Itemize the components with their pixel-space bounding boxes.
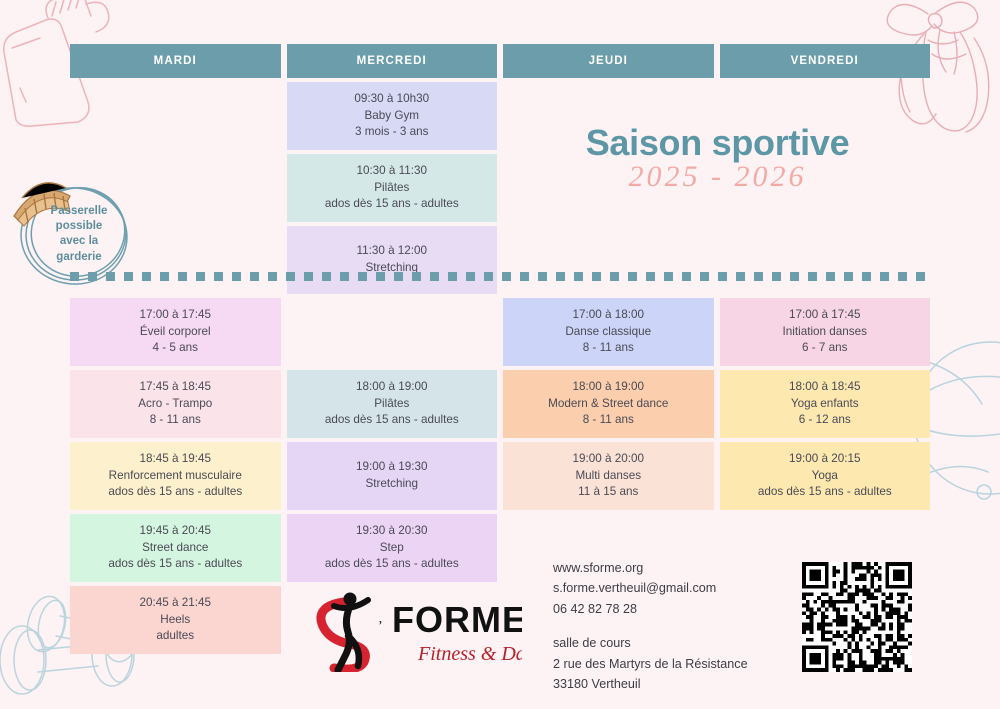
schedule-cell-modern-street-dance[interactable]: 18:00 à 19:00Modern & Street dance8 - 11… — [503, 370, 714, 438]
schedule-cell-baby-gym[interactable]: 09:30 à 10h30Baby Gym3 mois - 3 ans — [287, 82, 498, 150]
class-ages: 3 mois - 3 ans — [355, 124, 428, 141]
logo-tagline: Fitness & Danse — [417, 643, 522, 665]
class-ages: 4 - 5 ans — [153, 340, 198, 357]
contact-city: 33180 Vertheuil — [553, 674, 803, 694]
class-name: Yoga — [812, 468, 838, 485]
passerelle-line-1: Passerelle — [51, 205, 108, 217]
class-ages: ados dès 15 ans - adultes — [108, 556, 242, 573]
logo-apostrophe: ’ — [378, 619, 383, 634]
sforme-logo: ’ FORME Fitness & Danse — [300, 586, 522, 672]
class-ages: ados dès 15 ans - adultes — [325, 556, 459, 573]
class-name: Heels — [160, 612, 190, 629]
class-time: 19:30 à 20:30 — [356, 523, 428, 540]
class-name: Pilâtes — [374, 180, 409, 197]
schedule-cell-street-dance[interactable]: 19:45 à 20:45Street danceados dès 15 ans… — [70, 514, 281, 582]
schedule-cell-heels[interactable]: 20:45 à 21:45Heelsadultes — [70, 586, 281, 654]
class-name: Danse classique — [565, 324, 651, 341]
qr-code-canvas[interactable] — [802, 562, 912, 672]
logo-dancer-icon — [321, 593, 368, 671]
schedule-cell-empty — [70, 82, 281, 150]
class-time: 17:00 à 18:00 — [573, 307, 645, 324]
class-ages: 11 à 15 ans — [578, 484, 638, 501]
schedule-cell-empty — [720, 82, 931, 150]
qr-code[interactable] — [802, 562, 912, 672]
schedule-cell-empty — [503, 226, 714, 294]
contact-venue-label: salle de cours — [553, 633, 803, 653]
passerelle-line-3: avec la — [60, 235, 98, 247]
class-time: 19:00 à 20:15 — [789, 451, 861, 468]
class-name: Yoga enfants — [791, 396, 859, 413]
schedule-cell-empty — [503, 154, 714, 222]
schedule-cell-danse-classique[interactable]: 17:00 à 18:00Danse classique8 - 11 ans — [503, 298, 714, 366]
class-time: 18:00 à 19:00 — [573, 379, 645, 396]
class-time: 19:00 à 19:30 — [356, 459, 428, 476]
class-name: Renforcement musculaire — [109, 468, 242, 485]
day-header-mercredi: MERCREDI — [287, 44, 498, 78]
class-ages: ados dès 15 ans - adultes — [108, 484, 242, 501]
schedule-cell-pil-tes[interactable]: 18:00 à 19:00Pilâtesados dès 15 ans - ad… — [287, 370, 498, 438]
logo-word: FORME — [392, 599, 522, 640]
class-name: Éveil corporel — [140, 324, 211, 341]
passerelle-line-2: possible — [56, 220, 103, 232]
schedule-cell-initiation-danses[interactable]: 17:00 à 17:45Initiation danses6 - 7 ans — [720, 298, 931, 366]
class-time: 11:30 à 12:00 — [356, 243, 427, 260]
class-time: 19:45 à 20:45 — [140, 523, 212, 540]
class-time: 19:00 à 20:00 — [573, 451, 645, 468]
schedule-cell-stretching[interactable]: 11:30 à 12:00Stretching — [287, 226, 498, 294]
class-time: 09:30 à 10h30 — [354, 91, 429, 108]
passerelle-text: Passerelle possible avec la garderie — [38, 204, 120, 265]
class-name: Step — [380, 540, 404, 557]
day-header-vendredi: VENDREDI — [720, 44, 931, 78]
schedule-cell-yoga-enfants[interactable]: 18:00 à 18:45Yoga enfants6 - 12 ans — [720, 370, 931, 438]
contact-phone[interactable]: 06 42 82 78 28 — [553, 599, 803, 619]
class-time: 17:45 à 18:45 — [140, 379, 212, 396]
schedule-cell-empty — [720, 154, 931, 222]
class-ages: ados dès 15 ans - adultes — [325, 412, 459, 429]
contact-block: www.sforme.org s.forme.vertheuil@gmail.c… — [553, 558, 803, 694]
passerelle-line-4: garderie — [56, 251, 101, 263]
contact-email[interactable]: s.forme.vertheuil@gmail.com — [553, 578, 803, 598]
class-time: 18:00 à 19:00 — [356, 379, 428, 396]
schedule-cell-yoga[interactable]: 19:00 à 20:15Yogaados dès 15 ans - adult… — [720, 442, 931, 510]
flyer-page: MARDIMERCREDIJEUDIVENDREDI09:30 à 10h30B… — [0, 0, 1000, 709]
schedule-cell-empty — [287, 298, 498, 366]
contact-street: 2 rue des Martyrs de la Résistance — [553, 654, 803, 674]
class-time: 10:30 à 11:30 — [356, 163, 427, 180]
class-time: 20:45 à 21:45 — [140, 595, 212, 612]
class-ages: 6 - 12 ans — [799, 412, 851, 429]
schedule-cell-multi-danses[interactable]: 19:00 à 20:00Multi danses11 à 15 ans — [503, 442, 714, 510]
contact-spacer — [553, 619, 803, 633]
schedule-cell-step[interactable]: 19:30 à 20:30Stepados dès 15 ans - adult… — [287, 514, 498, 582]
class-name: Pilâtes — [374, 396, 409, 413]
schedule-cell-empty — [503, 82, 714, 150]
class-time: 17:00 à 17:45 — [789, 307, 861, 324]
class-ages: 8 - 11 ans — [583, 340, 634, 357]
schedule-cell-stretching[interactable]: 19:00 à 19:30Stretching — [287, 442, 498, 510]
class-name: Stretching — [365, 476, 418, 493]
schedule-cell-renforcement-musculaire[interactable]: 18:45 à 19:45Renforcement musculaireados… — [70, 442, 281, 510]
class-ages: 8 - 11 ans — [583, 412, 634, 429]
class-name: Baby Gym — [364, 108, 419, 125]
day-header-jeudi: JEUDI — [503, 44, 714, 78]
day-header-mardi: MARDI — [70, 44, 281, 78]
schedule-cell-acro-trampo[interactable]: 17:45 à 18:45Acro - Trampo8 - 11 ans — [70, 370, 281, 438]
class-name: Modern & Street dance — [548, 396, 668, 413]
class-time: 18:45 à 19:45 — [140, 451, 212, 468]
class-name: Street dance — [142, 540, 208, 557]
class-time: 18:00 à 18:45 — [789, 379, 861, 396]
class-ages: 8 - 11 ans — [150, 412, 201, 429]
class-ages: ados dès 15 ans - adultes — [758, 484, 892, 501]
class-name: Acro - Trampo — [138, 396, 212, 413]
class-time: 17:00 à 17:45 — [140, 307, 212, 324]
class-ages: ados dès 15 ans - adultes — [325, 196, 459, 213]
class-ages: adultes — [156, 628, 194, 645]
schedule-cell-veil-corporel[interactable]: 17:00 à 17:45Éveil corporel4 - 5 ans — [70, 298, 281, 366]
contact-website[interactable]: www.sforme.org — [553, 558, 803, 578]
class-name: Multi danses — [575, 468, 641, 485]
class-name: Initiation danses — [783, 324, 867, 341]
schedule-cell-pil-tes[interactable]: 10:30 à 11:30Pilâtesados dès 15 ans - ad… — [287, 154, 498, 222]
schedule-divider — [70, 272, 932, 281]
schedule-cell-empty — [720, 226, 931, 294]
passerelle-badge: Passerelle possible avec la garderie — [8, 168, 143, 298]
class-ages: 6 - 7 ans — [802, 340, 847, 357]
